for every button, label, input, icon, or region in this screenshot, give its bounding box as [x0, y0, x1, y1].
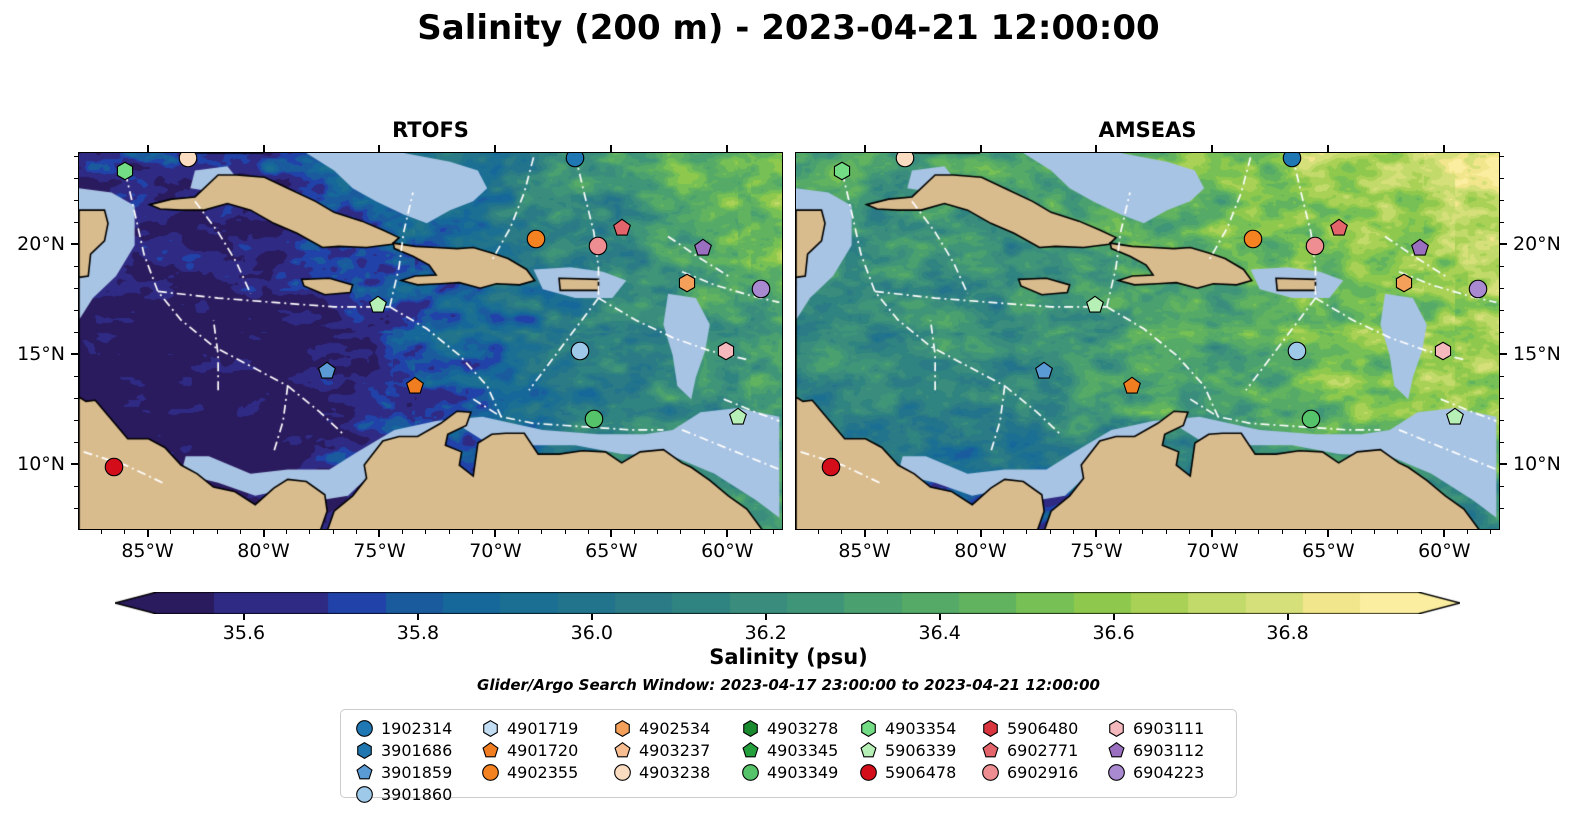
colorbar-tick-label: 36.4 [919, 622, 961, 644]
legend-marker-circle-icon [609, 761, 635, 783]
platform-marker-4902355[interactable] [526, 229, 545, 252]
legend-marker-hexagon-icon [1103, 717, 1129, 739]
legend-label: 6902771 [1003, 741, 1078, 760]
x-tick-label: 80°W [954, 540, 1006, 562]
legend-label: 5906339 [881, 741, 956, 760]
platform-marker-5906339[interactable] [1445, 407, 1464, 430]
y-minor-tick [1500, 266, 1504, 267]
x-tick-label: 70°W [1186, 540, 1238, 562]
colorbar-tick-label: 36.2 [745, 622, 787, 644]
y-minor-tick [74, 420, 78, 421]
legend-label: 4903354 [881, 719, 956, 738]
platform-marker-6903112[interactable] [1410, 238, 1429, 261]
y-minor-tick [1500, 310, 1504, 311]
platform-marker-6903111[interactable] [717, 341, 736, 364]
legend-label: 6903111 [1129, 719, 1204, 738]
legend-item-5906480[interactable]: 5906480 [977, 717, 1103, 739]
platform-marker-4902534[interactable] [1394, 273, 1413, 296]
x-tick-top [1443, 145, 1445, 152]
legend-label: 4902534 [635, 719, 710, 738]
legend-label: 5906480 [1003, 719, 1078, 738]
salinity-field [796, 153, 1500, 530]
y-minor-tick [1500, 420, 1504, 421]
colorbar-label: Salinity (psu) [0, 645, 1577, 669]
legend-label: 4901720 [503, 741, 578, 760]
platform-marker-5906339[interactable] [1086, 295, 1105, 318]
x-minor-tick [1166, 530, 1167, 534]
x-tick [1443, 530, 1445, 537]
x-tick-label: 75°W [1070, 540, 1122, 562]
legend-item-3901859[interactable]: 3901859 [351, 761, 477, 783]
legend-item-6902916[interactable]: 6902916 [977, 761, 1103, 783]
y-minor-tick [1500, 156, 1504, 157]
legend-column-2: 4902534 4903237 4903238 [609, 717, 737, 805]
platform-marker-5906478[interactable] [104, 458, 123, 481]
search-window-subtitle: Glider/Argo Search Window: 2023-04-17 23… [0, 676, 1577, 694]
colorbar-tick [243, 614, 245, 620]
y-minor-tick [74, 288, 78, 289]
y-minor-tick [74, 266, 78, 267]
x-minor-tick [170, 530, 171, 534]
x-minor-tick [1050, 530, 1051, 534]
platform-marker-4903349[interactable] [1301, 410, 1320, 433]
colorbar-gradient [115, 592, 1460, 614]
x-tick-top [263, 145, 265, 152]
legend-column-1: 4901719 4901720 4902355 [477, 717, 609, 805]
x-minor-tick [1397, 530, 1398, 534]
legend-item-6903112[interactable]: 6903112 [1103, 739, 1204, 761]
colorbar: 35.635.836.036.236.436.636.8 [115, 592, 1460, 644]
colorbar-tick-label: 36.0 [571, 622, 613, 644]
x-tick [147, 530, 149, 537]
x-tick-top [1211, 145, 1213, 152]
y-minor-tick [1500, 508, 1504, 509]
legend-marker-pentagon-icon [977, 739, 1003, 761]
x-minor-tick [910, 530, 911, 534]
platform-marker-6902916[interactable] [1306, 236, 1325, 259]
y-minor-tick [74, 398, 78, 399]
legend-item-4903345[interactable]: 4903345 [737, 739, 855, 761]
platform-marker-1902314[interactable] [566, 152, 585, 171]
legend-label: 4903345 [763, 741, 838, 760]
y-minor-tick [1500, 178, 1504, 179]
x-minor-tick [634, 530, 635, 534]
legend-item-6903111[interactable]: 6903111 [1103, 717, 1204, 739]
x-minor-tick [240, 530, 241, 534]
x-tick-label: 70°W [469, 540, 521, 562]
x-minor-tick [680, 530, 681, 534]
platform-marker-6904223[interactable] [751, 280, 770, 303]
legend-item-4902534[interactable]: 4902534 [609, 717, 737, 739]
x-tick-top [1327, 145, 1329, 152]
platform-marker-3901859[interactable] [318, 361, 337, 384]
colorbar-tick-label: 36.6 [1092, 622, 1134, 644]
legend-label: 6904223 [1129, 763, 1204, 782]
platform-marker-4903349[interactable] [584, 410, 603, 433]
y-minor-tick [74, 222, 78, 223]
y-tick-label: 10°N [1513, 453, 1561, 475]
colorbar-tick [1113, 614, 1115, 620]
legend-item-4903237[interactable]: 4903237 [609, 739, 737, 761]
y-tick [71, 243, 78, 245]
x-minor-tick [124, 530, 125, 534]
legend-item-4902355[interactable]: 4902355 [477, 761, 609, 783]
x-tick [610, 530, 612, 537]
legend-marker-circle-icon [351, 783, 377, 805]
x-minor-tick [1258, 530, 1259, 534]
legend-column-6: 6903111 6903112 6904223 [1103, 717, 1204, 805]
legend-marker-pentagon-icon [737, 739, 763, 761]
y-tick-label: 10°N [17, 453, 65, 475]
x-minor-tick [1421, 530, 1422, 534]
x-minor-tick [1490, 530, 1491, 534]
x-tick-top [1095, 145, 1097, 152]
platform-marker-4903354[interactable] [116, 161, 135, 184]
panel-title-rtofs: RTOFS [78, 118, 783, 142]
figure-root: Salinity (200 m) - 2023-04-21 12:00:00 [0, 0, 1577, 827]
platform-marker-4902534[interactable] [677, 273, 696, 296]
x-minor-tick [425, 530, 426, 534]
x-tick-label: 60°W [701, 540, 753, 562]
legend-marker-pentagon-icon [351, 761, 377, 783]
x-minor-tick [1374, 530, 1375, 534]
y-minor-tick [1500, 222, 1504, 223]
legend-marker-circle-icon [477, 761, 503, 783]
y-tick-label: 20°N [1513, 233, 1561, 255]
legend-marker-circle-icon [737, 761, 763, 783]
x-minor-tick [101, 530, 102, 534]
legend-marker-circle-icon [351, 717, 377, 739]
platform-marker-4901720[interactable] [406, 377, 425, 400]
x-tick [1211, 530, 1213, 537]
x-tick-top [980, 145, 982, 152]
y-minor-tick [1500, 200, 1504, 201]
platform-marker-3901860[interactable] [1287, 341, 1306, 364]
x-tick [726, 530, 728, 537]
legend-column-0: 1902314 3901686 3901859 3901860 [351, 717, 477, 805]
platform-legend: 1902314 3901686 3901859 3901860 4901719 … [340, 709, 1237, 798]
x-minor-tick [588, 530, 589, 534]
legend-label: 4903349 [763, 763, 838, 782]
x-minor-tick [773, 530, 774, 534]
x-minor-tick [1235, 530, 1236, 534]
y-minor-tick [74, 442, 78, 443]
y-tick [71, 463, 78, 465]
y-minor-tick [1500, 332, 1504, 333]
x-tick-label: 85°W [121, 540, 173, 562]
x-tick [1327, 530, 1329, 537]
legend-column-3: 4903278 4903345 4903349 [737, 717, 855, 805]
x-minor-tick [286, 530, 287, 534]
y-minor-tick [1500, 442, 1504, 443]
platform-marker-5906478[interactable] [821, 458, 840, 481]
legend-marker-circle-icon [1103, 761, 1129, 783]
x-minor-tick [402, 530, 403, 534]
colorbar-tick-label: 35.6 [223, 622, 265, 644]
x-minor-tick [750, 530, 751, 534]
y-minor-tick [74, 486, 78, 487]
y-minor-tick [74, 200, 78, 201]
x-tick [1095, 530, 1097, 537]
platform-marker-6902771[interactable] [612, 218, 631, 241]
legend-label: 3901860 [377, 785, 452, 804]
legend-label: 3901859 [377, 763, 452, 782]
legend-marker-pentagon-icon [477, 739, 503, 761]
x-minor-tick [1142, 530, 1143, 534]
x-minor-tick [565, 530, 566, 534]
platform-marker-4901720[interactable] [1123, 377, 1142, 400]
legend-item-3901860[interactable]: 3901860 [351, 783, 477, 805]
y-tick-label: 15°N [17, 343, 65, 365]
y-tick [1500, 243, 1507, 245]
y-minor-tick [1500, 486, 1504, 487]
platform-marker-3901859[interactable] [1035, 361, 1054, 384]
platform-marker-6904223[interactable] [1468, 280, 1487, 303]
legend-column-4: 4903354 5906339 5906478 [855, 717, 977, 805]
y-minor-tick [74, 332, 78, 333]
legend-marker-hexagon-icon [855, 717, 881, 739]
x-minor-tick [818, 530, 819, 534]
legend-grid: 1902314 3901686 3901859 3901860 4901719 … [341, 710, 1236, 812]
y-minor-tick [74, 376, 78, 377]
legend-item-4903278[interactable]: 4903278 [737, 717, 855, 739]
figure-title: Salinity (200 m) - 2023-04-21 12:00:00 [0, 8, 1577, 48]
y-minor-tick [1500, 376, 1504, 377]
platform-marker-3901860[interactable] [570, 341, 589, 364]
map-panel-amseas [795, 152, 1500, 530]
legend-item-4901720[interactable]: 4901720 [477, 739, 609, 761]
y-tick [1500, 463, 1507, 465]
platform-marker-4903238[interactable] [178, 152, 197, 171]
legend-marker-hexagon-icon [737, 717, 763, 739]
legend-label: 3901686 [377, 741, 452, 760]
platform-marker-6902916[interactable] [589, 236, 608, 259]
legend-item-4903349[interactable]: 4903349 [737, 761, 855, 783]
legend-marker-hexagon-icon [351, 739, 377, 761]
colorbar-tick [591, 614, 593, 620]
legend-column-5: 5906480 6902771 6902916 [977, 717, 1103, 805]
salinity-field [79, 153, 783, 530]
y-tick [1500, 353, 1507, 355]
legend-marker-hexagon-icon [609, 717, 635, 739]
x-tick-top [864, 145, 866, 152]
x-minor-tick [1305, 530, 1306, 534]
x-tick [263, 530, 265, 537]
platform-marker-4903354[interactable] [833, 161, 852, 184]
x-tick-label: 65°W [585, 540, 637, 562]
x-tick-label: 60°W [1418, 540, 1470, 562]
x-tick [864, 530, 866, 537]
legend-item-3901686[interactable]: 3901686 [351, 739, 477, 761]
x-tick [494, 530, 496, 537]
x-minor-tick [518, 530, 519, 534]
x-minor-tick [449, 530, 450, 534]
platform-marker-6902771[interactable] [1329, 218, 1348, 241]
y-tick-label: 15°N [1513, 343, 1561, 365]
legend-item-6904223[interactable]: 6904223 [1103, 761, 1204, 783]
legend-marker-pentagon-icon [1103, 739, 1129, 761]
x-tick [378, 530, 380, 537]
legend-item-5906478[interactable]: 5906478 [855, 761, 977, 783]
colorbar-tick-label: 36.8 [1266, 622, 1308, 644]
colorbar-tick [417, 614, 419, 620]
platform-marker-4902355[interactable] [1243, 229, 1262, 252]
platform-marker-1902314[interactable] [1283, 152, 1302, 171]
colorbar-tick [939, 614, 941, 620]
y-tick [71, 353, 78, 355]
legend-label: 4901719 [503, 719, 578, 738]
x-minor-tick [217, 530, 218, 534]
x-minor-tick [1026, 530, 1027, 534]
x-minor-tick [704, 530, 705, 534]
y-tick-label: 20°N [17, 233, 65, 255]
x-minor-tick [934, 530, 935, 534]
legend-label: 4903278 [763, 719, 838, 738]
legend-item-5906339[interactable]: 5906339 [855, 739, 977, 761]
y-minor-tick [74, 178, 78, 179]
platform-marker-6903111[interactable] [1434, 341, 1453, 364]
x-tick-label: 85°W [838, 540, 890, 562]
legend-item-1902314[interactable]: 1902314 [351, 717, 477, 739]
y-minor-tick [74, 508, 78, 509]
legend-marker-hexagon-icon [477, 717, 503, 739]
x-tick [980, 530, 982, 537]
y-minor-tick [74, 156, 78, 157]
x-tick-top [610, 145, 612, 152]
legend-label: 6902916 [1003, 763, 1078, 782]
legend-label: 5906478 [881, 763, 956, 782]
x-tick-top [494, 145, 496, 152]
legend-label: 4902355 [503, 763, 578, 782]
x-tick-top [726, 145, 728, 152]
colorbar-tick [1287, 614, 1289, 620]
x-minor-tick [193, 530, 194, 534]
x-minor-tick [1189, 530, 1190, 534]
x-minor-tick [309, 530, 310, 534]
map-panel-rtofs [78, 152, 783, 530]
legend-label: 4903237 [635, 741, 710, 760]
x-minor-tick [657, 530, 658, 534]
legend-label: 6903112 [1129, 741, 1204, 760]
panel-title-amseas: AMSEAS [795, 118, 1500, 142]
legend-marker-pentagon-icon [609, 739, 635, 761]
x-minor-tick [472, 530, 473, 534]
x-minor-tick [356, 530, 357, 534]
legend-item-6902771[interactable]: 6902771 [977, 739, 1103, 761]
platform-marker-5906339[interactable] [728, 407, 747, 430]
y-minor-tick [1500, 398, 1504, 399]
y-minor-tick [1500, 288, 1504, 289]
colorbar-tick-label: 35.8 [397, 622, 439, 644]
platform-marker-4903238[interactable] [895, 152, 914, 171]
legend-marker-pentagon-icon [855, 739, 881, 761]
x-minor-tick [841, 530, 842, 534]
x-minor-tick [541, 530, 542, 534]
platform-marker-5906339[interactable] [369, 295, 388, 318]
legend-item-4903238[interactable]: 4903238 [609, 761, 737, 783]
legend-marker-circle-icon [977, 761, 1003, 783]
legend-item-4903354[interactable]: 4903354 [855, 717, 977, 739]
legend-label: 1902314 [377, 719, 452, 738]
legend-label: 4903238 [635, 763, 710, 782]
x-tick-label: 80°W [237, 540, 289, 562]
x-minor-tick [1073, 530, 1074, 534]
x-minor-tick [1467, 530, 1468, 534]
x-tick-top [378, 145, 380, 152]
x-tick-label: 65°W [1302, 540, 1354, 562]
platform-marker-6903112[interactable] [693, 238, 712, 261]
x-minor-tick [887, 530, 888, 534]
x-minor-tick [333, 530, 334, 534]
x-minor-tick [957, 530, 958, 534]
colorbar-tick [765, 614, 767, 620]
y-minor-tick [74, 310, 78, 311]
x-minor-tick [1351, 530, 1352, 534]
legend-marker-circle-icon [855, 761, 881, 783]
x-minor-tick [1003, 530, 1004, 534]
x-tick-top [147, 145, 149, 152]
legend-item-4901719[interactable]: 4901719 [477, 717, 609, 739]
legend-marker-hexagon-icon [977, 717, 1003, 739]
x-minor-tick [1282, 530, 1283, 534]
x-tick-label: 75°W [353, 540, 405, 562]
x-minor-tick [1119, 530, 1120, 534]
